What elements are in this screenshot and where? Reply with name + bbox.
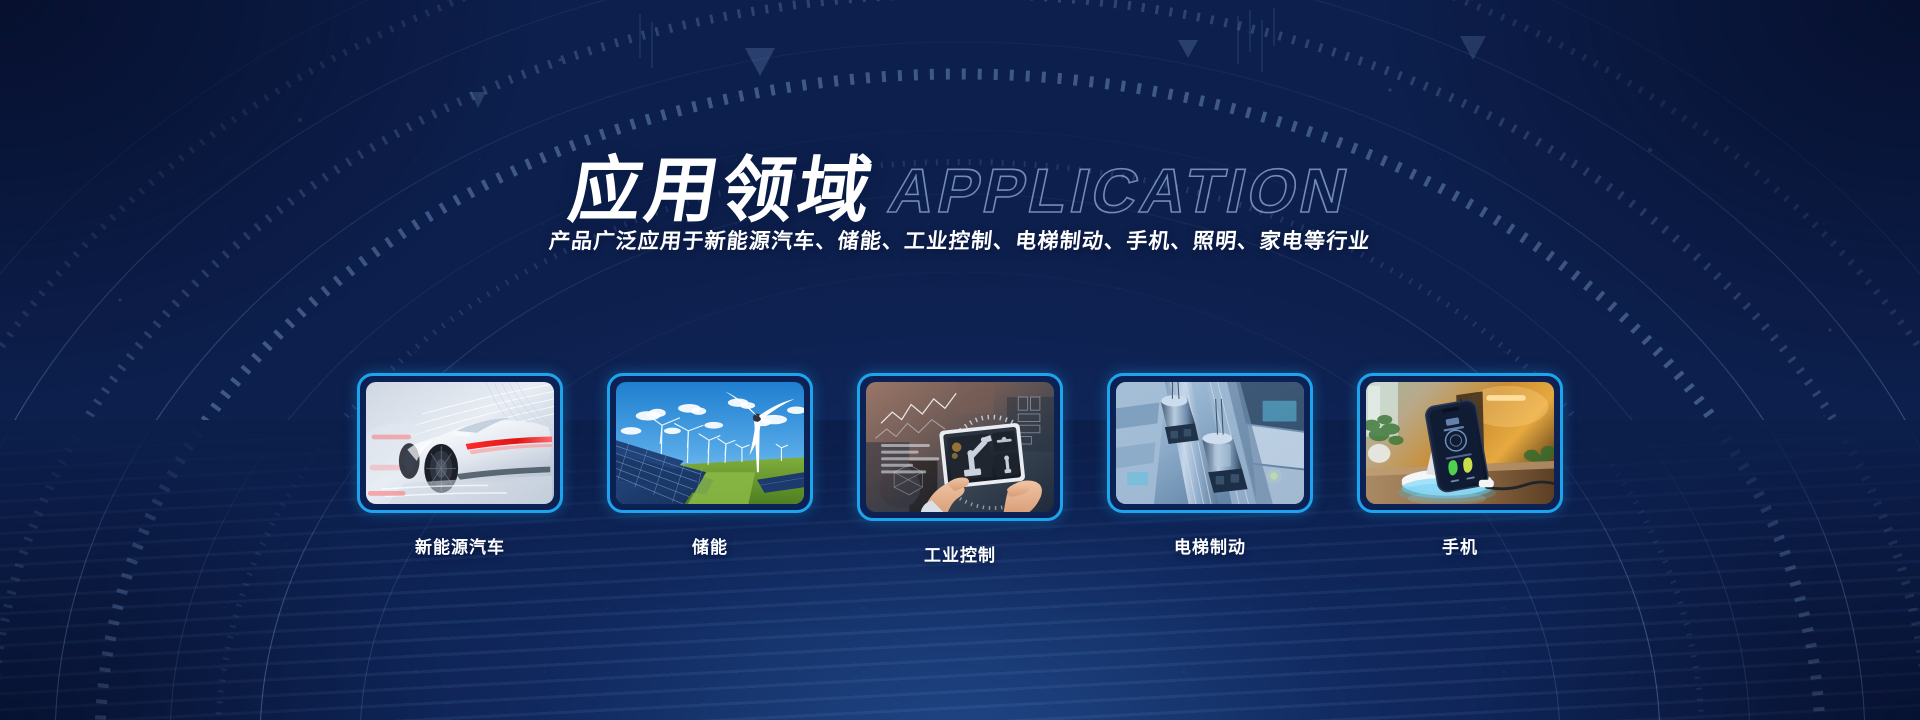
- card-frame[interactable]: [357, 373, 563, 513]
- card-label: 电梯制动: [1174, 533, 1246, 558]
- application-card-new-energy-vehicle[interactable]: 新能源汽车: [357, 373, 563, 566]
- card-frame[interactable]: [1107, 373, 1313, 513]
- industrial-tablet-photo: [866, 382, 1054, 512]
- application-card-list: 新能源汽车: [0, 373, 1920, 566]
- card-frame[interactable]: [607, 373, 813, 513]
- application-card-mobile-phone[interactable]: 手机: [1357, 373, 1563, 566]
- glass-elevator-photo: [1116, 382, 1304, 504]
- application-card-energy-storage[interactable]: 储能: [607, 373, 813, 566]
- card-label: 手机: [1442, 533, 1478, 558]
- banner-background: 应用领域 APPLICATION 产品广泛应用于新能源汽车、储能、工业控制、电梯…: [0, 0, 1920, 720]
- page-subtitle: 产品广泛应用于新能源汽车、储能、工业控制、电梯制动、手机、照明、家电等行业: [0, 225, 1920, 255]
- phone-wireless-charger-photo: [1366, 382, 1554, 504]
- card-label: 储能: [692, 533, 728, 558]
- solar-wind-farm-photo: [616, 382, 804, 504]
- electric-sports-car-photo: [366, 382, 554, 504]
- card-frame[interactable]: [857, 373, 1063, 521]
- card-frame[interactable]: [1357, 373, 1563, 513]
- title-english-outline: APPLICATION: [884, 161, 1357, 223]
- page-title: 应用领域 APPLICATION: [0, 137, 1920, 227]
- application-card-elevator-brake[interactable]: 电梯制动: [1107, 373, 1313, 566]
- application-card-industrial-control[interactable]: 工业控制: [857, 373, 1063, 566]
- title-chinese: 应用领域: [564, 155, 879, 227]
- card-label: 新能源汽车: [415, 533, 505, 558]
- card-label: 工业控制: [924, 541, 996, 566]
